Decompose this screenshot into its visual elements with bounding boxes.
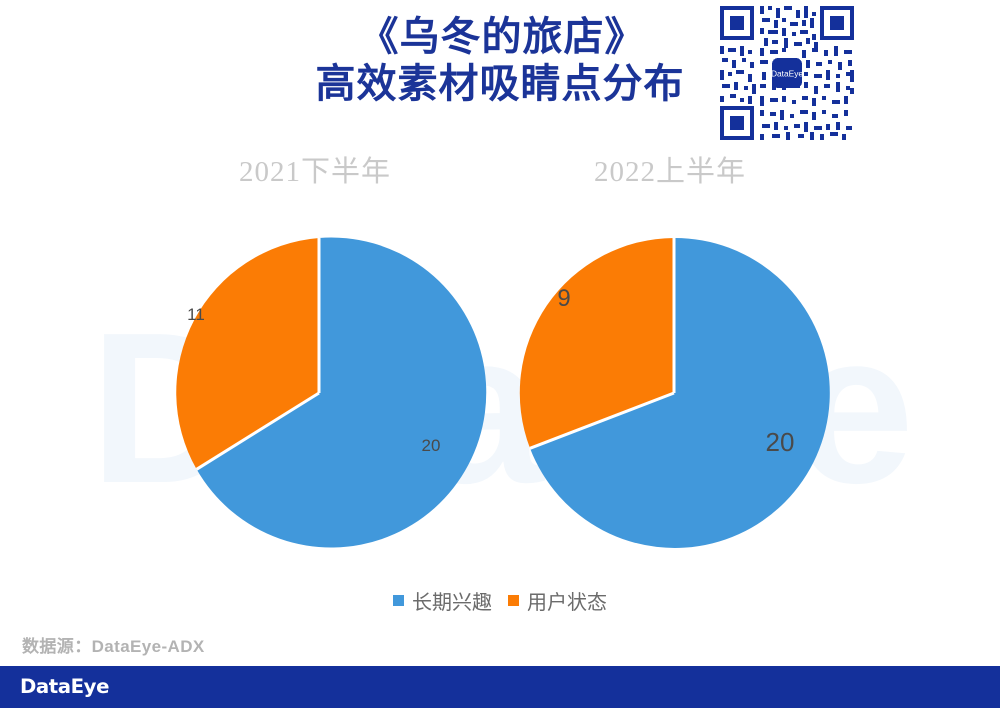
- pie-panel-2022h1: 2022上半年 20 9: [450, 140, 890, 580]
- dataeye-logo: DataEye: [20, 675, 164, 699]
- chart-canvas: DataEye 《乌冬的旅店》 高效素材吸睛点分布: [0, 0, 1000, 708]
- pie-value-status-2022h1: 9: [557, 285, 570, 312]
- legend-label-interest: 长期兴趣: [412, 586, 492, 615]
- source-text: 数据源：DataEye-ADX: [22, 632, 205, 657]
- chart-legend: 长期兴趣 用户状态: [0, 586, 1000, 615]
- legend-item-status[interactable]: 用户状态: [508, 586, 607, 615]
- pie-chart-2022h1: 20 9: [518, 218, 830, 568]
- legend-swatch-icon: [508, 595, 519, 606]
- pie-chart-2021h2: 20 11: [163, 218, 475, 568]
- legend-swatch-icon: [393, 595, 404, 606]
- legend-label-status: 用户状态: [527, 586, 607, 615]
- footer-bar: DataEye: [0, 666, 1000, 708]
- qr-center-label: DataEye: [771, 68, 803, 78]
- pie-value-status-2021h2: 11: [187, 305, 205, 324]
- dataeye-logo-text: DataEye: [20, 675, 109, 698]
- charts-container: 2021下半年 20 11 2022上半年: [0, 140, 1000, 580]
- legend-item-interest[interactable]: 长期兴趣: [393, 586, 492, 615]
- pie-subtitle-2022h1: 2022上半年: [450, 148, 890, 190]
- pie-value-interest-2022h1: 20: [766, 427, 795, 457]
- pie-value-interest-2021h2: 20: [422, 436, 441, 455]
- qr-code[interactable]: DataEye: [716, 2, 858, 142]
